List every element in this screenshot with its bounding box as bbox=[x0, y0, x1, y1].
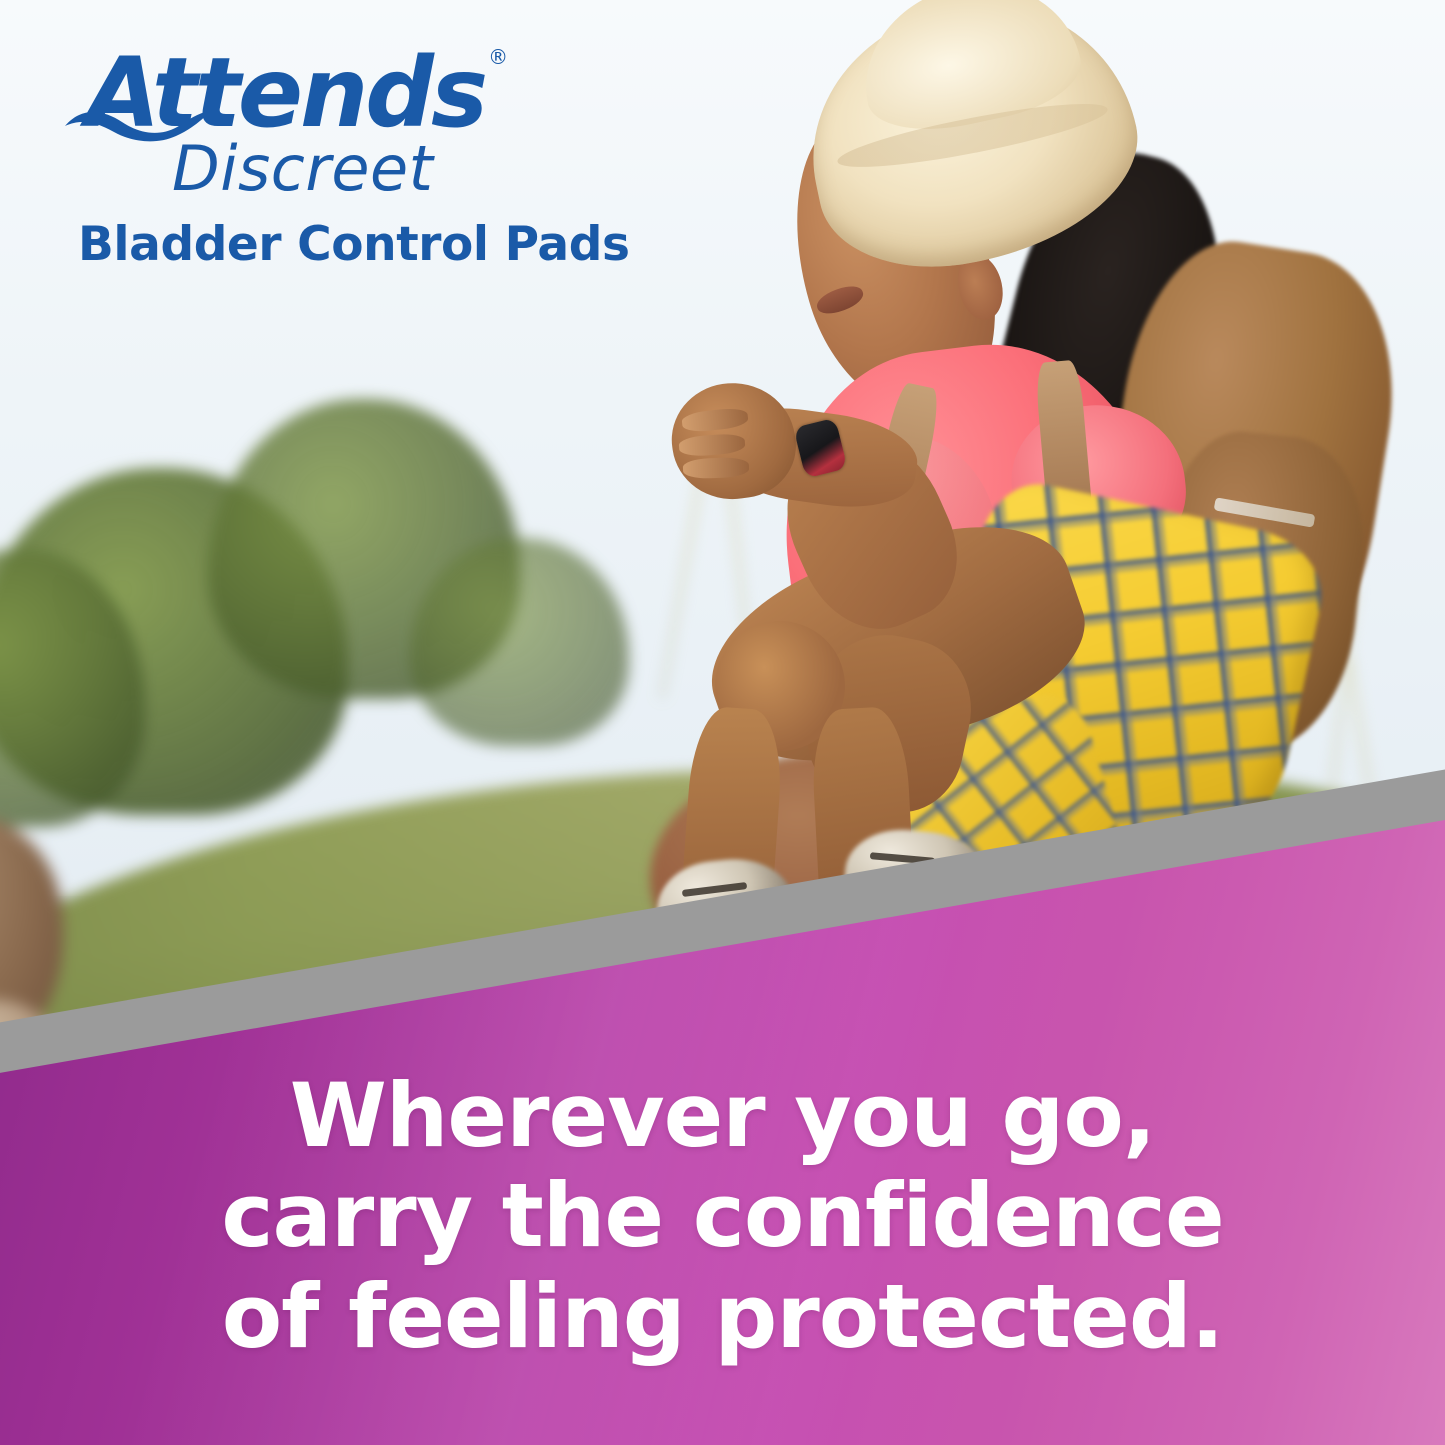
tagline-line-2: carry the confidence bbox=[60, 1166, 1385, 1266]
product-line-label: Bladder Control Pads bbox=[64, 219, 704, 271]
tagline-line-3: of feeling protected. bbox=[60, 1267, 1385, 1367]
registered-trademark-icon: ® bbox=[488, 48, 508, 68]
brand-logo: Attends® Discreet Bladder Control Pads bbox=[64, 46, 704, 271]
ad-creative: Attends® Discreet Bladder Control Pads W… bbox=[0, 0, 1445, 1445]
tagline: Wherever you go, carry the confidence of… bbox=[0, 1066, 1445, 1367]
brand-name: Attends® bbox=[64, 46, 704, 140]
tagline-line-1: Wherever you go, bbox=[60, 1066, 1385, 1166]
brand-name-text: Attends bbox=[86, 37, 485, 149]
